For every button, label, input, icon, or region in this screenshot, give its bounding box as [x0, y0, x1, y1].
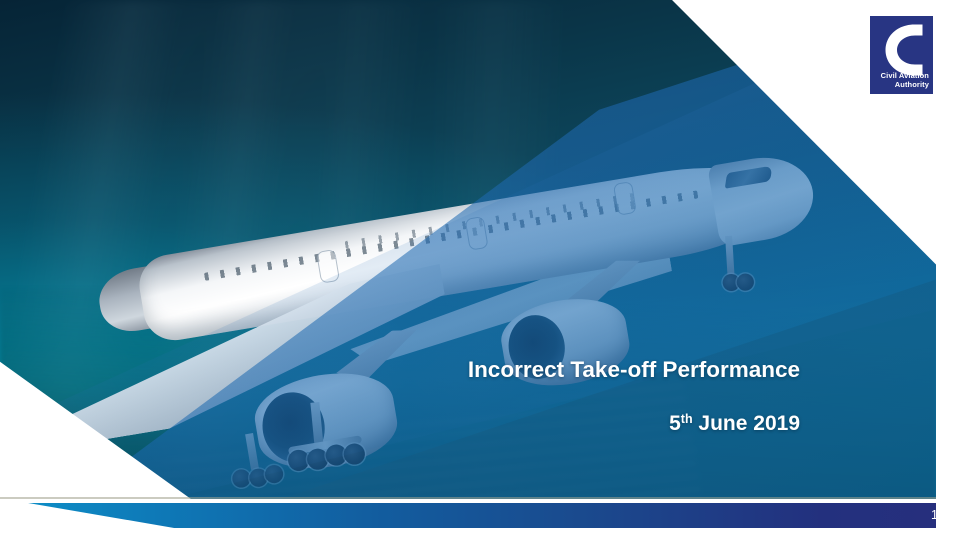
page-number: 1	[931, 505, 938, 525]
title-block: Incorrect Take-off Performance 5th June …	[300, 356, 800, 439]
logo-wordmark: Civil Aviation Authority	[881, 71, 929, 89]
logo-line-2: Authority	[881, 80, 929, 89]
slide-canvas: Civil Aviation Authority Incorrect Take-…	[0, 0, 960, 540]
date-ordinal-suffix: th	[681, 412, 693, 426]
page-title: Incorrect Take-off Performance	[300, 356, 800, 384]
date-day: 5	[669, 412, 681, 435]
footer-gradient-bar	[0, 503, 936, 528]
civil-aviation-authority-logo: Civil Aviation Authority	[870, 16, 933, 94]
slide-date: 5th June 2019	[300, 411, 800, 439]
hero-bottom-edge	[0, 497, 936, 499]
logo-line-1: Civil Aviation	[881, 71, 929, 80]
date-month-year: June 2019	[693, 412, 800, 435]
caa-crescent-mark	[886, 25, 923, 76]
